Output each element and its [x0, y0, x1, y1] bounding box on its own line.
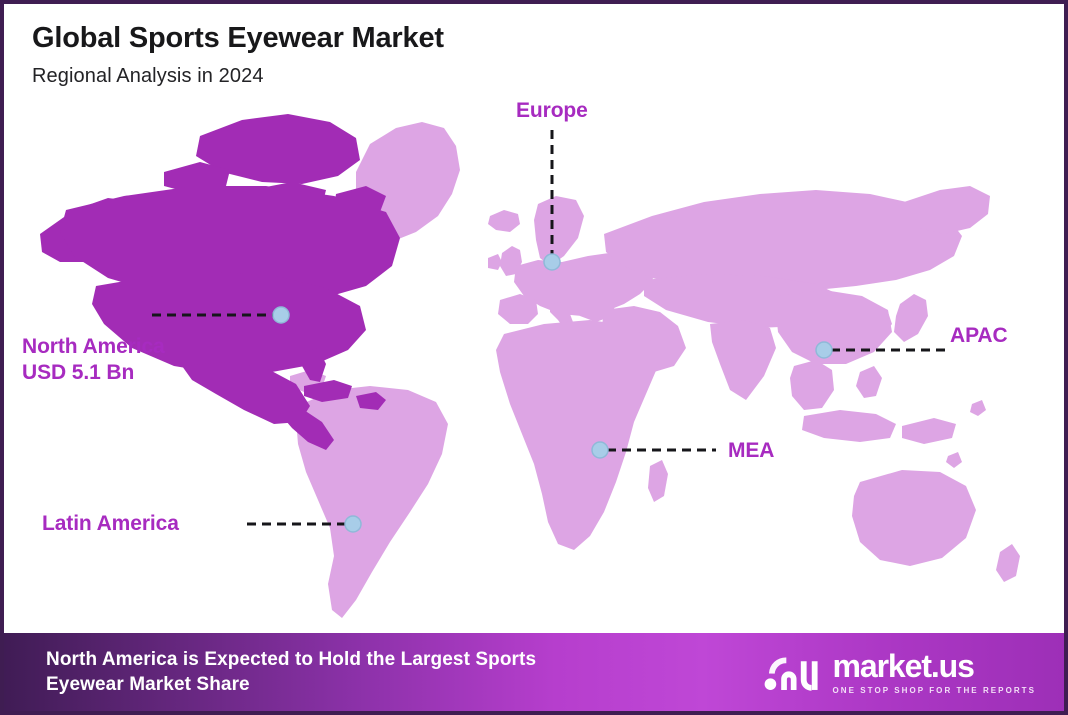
market-us-logo-icon — [762, 649, 820, 695]
region-east-asia — [776, 290, 892, 364]
region-name-mea: MEA — [728, 439, 774, 462]
region-pacific-islands — [970, 400, 986, 416]
footer-headline-line1: North America is Expected to Hold the La… — [46, 649, 536, 670]
region-new-zealand — [996, 544, 1020, 582]
footer-headline-line2: Eyewear Market Share — [46, 672, 536, 697]
page-subtitle: Regional Analysis in 2024 — [32, 65, 444, 88]
footer-banner: North America is Expected to Hold the La… — [4, 633, 1064, 711]
region-philippines — [856, 366, 882, 398]
logo-text-group: market.us ONE STOP SHOP FOR THE REPORTS — [833, 650, 1036, 695]
logo-tagline: ONE STOP SHOP FOR THE REPORTS — [833, 686, 1036, 695]
logo-wordmark: market.us — [833, 650, 1036, 682]
region-label-mea: MEA — [728, 438, 774, 464]
region-name-apac: APAC — [950, 324, 1008, 347]
region-africa — [496, 320, 658, 550]
region-new-guinea — [902, 418, 956, 444]
region-label-apac: APAC — [950, 323, 1008, 349]
map-base-regions — [290, 122, 1020, 618]
brand-logo[interactable]: market.us ONE STOP SHOP FOR THE REPORTS — [762, 649, 1042, 695]
region-scandinavia — [534, 196, 584, 266]
header: Global Sports Eyewear Market Regional An… — [32, 22, 444, 88]
region-ireland — [488, 254, 502, 270]
region-name-europe: Europe — [516, 99, 588, 122]
page-title: Global Sports Eyewear Market — [32, 22, 444, 55]
region-value-north-america: USD 5.1 Bn — [22, 360, 165, 386]
region-madagascar — [648, 460, 668, 502]
region-label-europe: Europe — [516, 98, 588, 124]
infographic-root: Global Sports Eyewear Market Regional An… — [0, 0, 1068, 715]
region-indonesia — [802, 410, 896, 442]
region-southeast-asia — [790, 360, 834, 410]
footer-headline: North America is Expected to Hold the La… — [46, 647, 536, 698]
region-label-latin-america: Latin America — [42, 511, 179, 537]
region-pacific-islands-2 — [946, 452, 962, 468]
region-iceland — [488, 210, 520, 232]
region-name-north-america: North America — [22, 335, 165, 358]
region-name-latin-america: Latin America — [42, 512, 179, 535]
region-label-north-america: North America USD 5.1 Bn — [22, 334, 165, 385]
region-australia — [852, 470, 976, 566]
region-iberia — [498, 294, 538, 324]
region-india — [710, 320, 776, 400]
region-japan — [894, 294, 928, 342]
